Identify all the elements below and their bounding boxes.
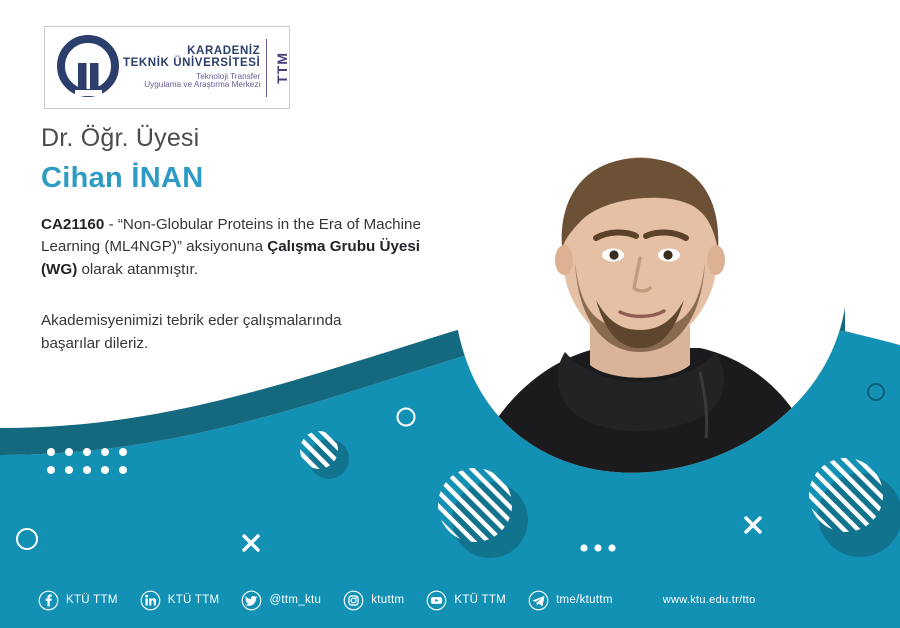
- logo-line-1: KARADENİZ: [123, 45, 260, 57]
- social-footer: KTÜ TTM KTÜ TTM @ttm_ktu: [0, 578, 900, 622]
- logo-ttm-label: TTM: [274, 52, 292, 84]
- announcement-tail: olarak atanmıştır.: [77, 261, 198, 278]
- social-label-facebook: KTÜ TTM: [66, 594, 118, 606]
- social-item-facebook[interactable]: KTÜ TTM: [38, 590, 118, 611]
- congratulations-paragraph: Akademisyenimizi tebrik eder çalışmaları…: [41, 310, 371, 356]
- social-item-telegram[interactable]: tme/ktuttm: [528, 590, 613, 611]
- striped-circle-decoration: [438, 468, 512, 542]
- social-label-instagram: ktuttm: [371, 594, 404, 606]
- social-label-linkedin: KTÜ TTM: [168, 594, 220, 606]
- twitter-icon: [241, 590, 262, 611]
- social-item-linkedin[interactable]: KTÜ TTM: [140, 590, 220, 611]
- university-logo: KARADENİZ TEKNİK ÜNİVERSİTESİ Teknoloji …: [44, 26, 290, 109]
- person-name: Cihan İNAN: [41, 162, 204, 195]
- academic-title: Dr. Öğr. Üyesi: [41, 124, 199, 153]
- social-label-youtube: KTÜ TTM: [454, 594, 506, 606]
- logo-line-4: Uygulama ve Araştırma Merkezi: [123, 81, 260, 90]
- facebook-icon: [38, 590, 59, 611]
- social-item-instagram[interactable]: ktuttm: [343, 590, 404, 611]
- logo-divider: [266, 39, 267, 97]
- striped-circle-decoration: [300, 431, 338, 469]
- ktu-logo-icon: [53, 33, 123, 103]
- award-poster: KARADENİZ TEKNİK ÜNİVERSİTESİ Teknoloji …: [0, 0, 900, 628]
- social-item-youtube[interactable]: KTÜ TTM: [426, 590, 506, 611]
- telegram-icon: [528, 590, 549, 611]
- logo-line-2: TEKNİK ÜNİVERSİTESİ: [123, 57, 260, 69]
- logo-text-block: KARADENİZ TEKNİK ÜNİVERSİTESİ Teknoloji …: [123, 45, 266, 90]
- social-item-twitter[interactable]: @ttm_ktu: [241, 590, 321, 611]
- social-label-telegram: tme/ktuttm: [556, 594, 613, 606]
- three-dots-decoration: [580, 544, 615, 551]
- striped-circle-decoration: [809, 458, 883, 532]
- announcement-paragraph: CA21160 - “Non-Globular Proteins in the …: [41, 214, 453, 281]
- instagram-icon: [343, 590, 364, 611]
- linkedin-icon: [140, 590, 161, 611]
- action-code: CA21160: [41, 216, 104, 233]
- youtube-icon: [426, 590, 447, 611]
- website-url[interactable]: www.ktu.edu.tr/tto: [663, 594, 756, 606]
- social-label-twitter: @ttm_ktu: [269, 594, 321, 606]
